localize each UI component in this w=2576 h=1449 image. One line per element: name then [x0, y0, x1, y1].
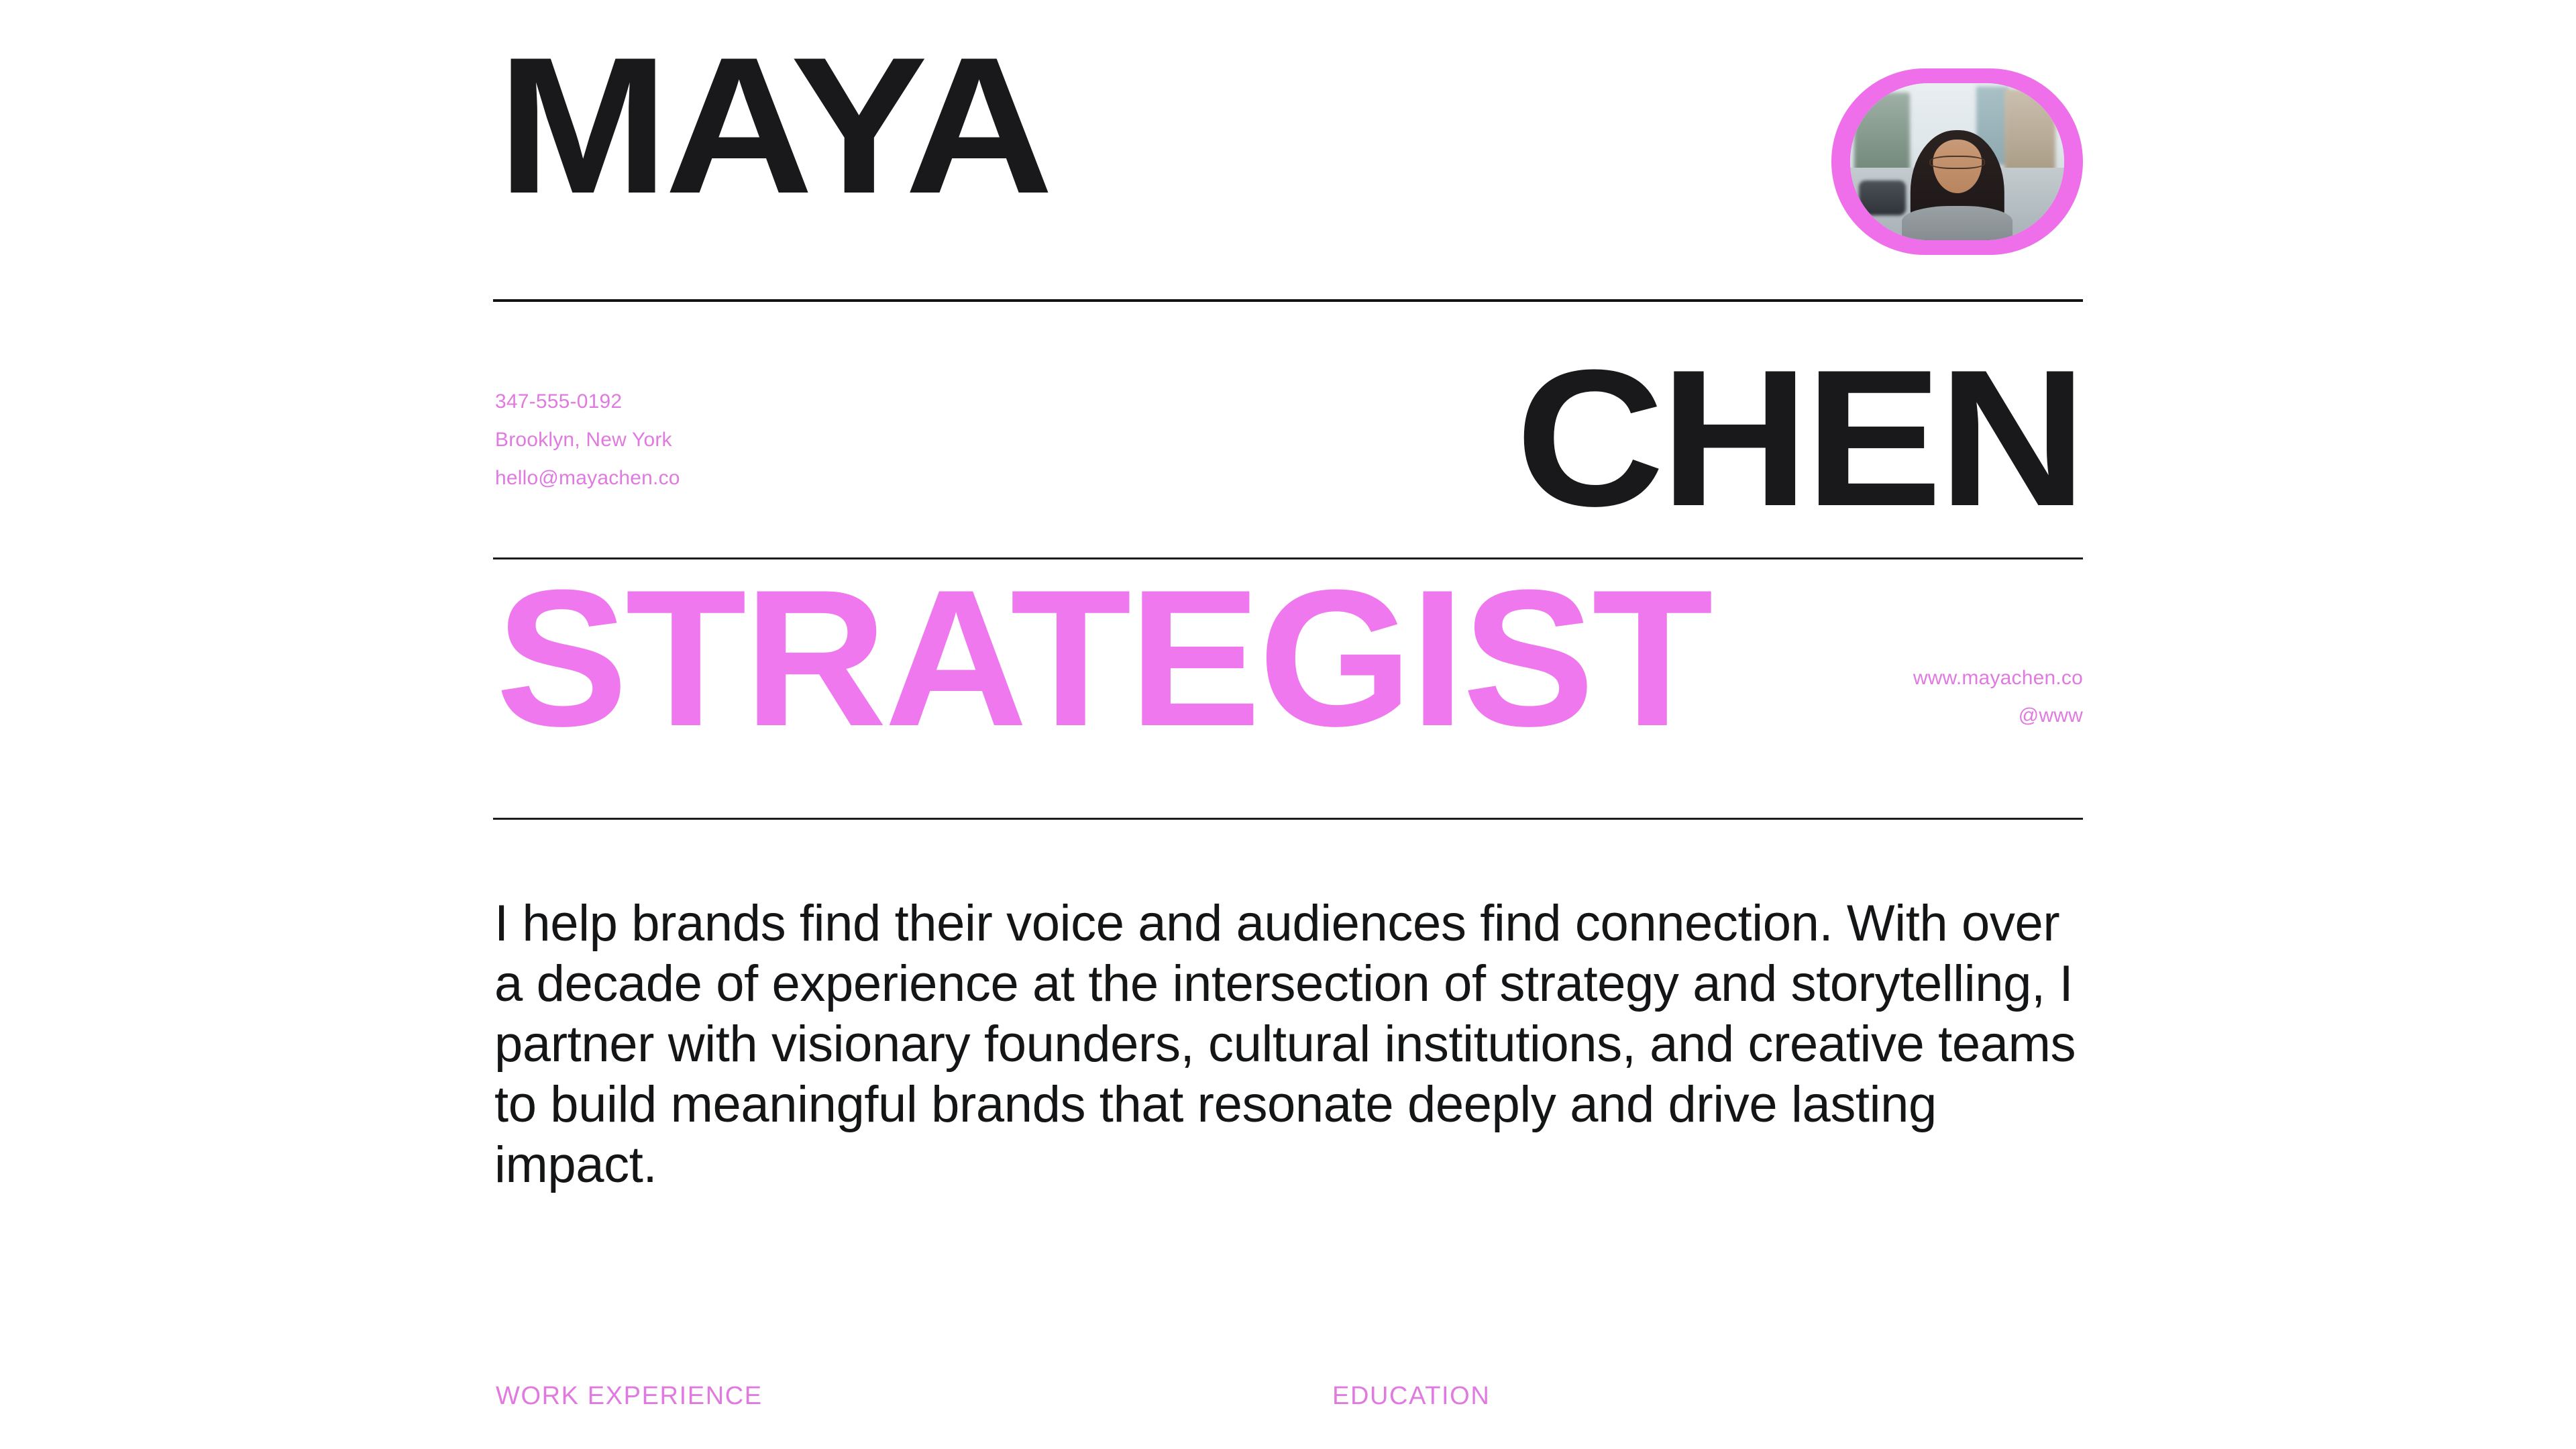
role-title: STRATEGIST [496, 561, 1711, 755]
link-website[interactable]: www.mayachen.co [1913, 659, 2083, 697]
avatar-photo [1850, 83, 2064, 240]
contact-location: Brooklyn, New York [495, 421, 680, 459]
header-row-first-name: MAYA [493, 40, 2083, 282]
section-label-work-experience: WORK EXPERIENCE [496, 1383, 763, 1409]
section-label-education: EDUCATION [1332, 1383, 1490, 1409]
glasses-icon [1929, 156, 1986, 169]
contact-email[interactable]: hello@mayachen.co [495, 459, 680, 497]
summary-paragraph: I help brands find their voice and audie… [494, 894, 2098, 1195]
last-name-heading: CHEN [1515, 341, 2083, 535]
contact-block: 347-555-0192 Brooklyn, New York hello@ma… [495, 382, 680, 497]
contact-phone[interactable]: 347-555-0192 [495, 382, 680, 421]
role-row: STRATEGIST www.mayachen.co @www [493, 576, 2083, 797]
link-social-handle[interactable]: @www [1913, 697, 2083, 735]
avatar [1831, 68, 2083, 255]
links-block: www.mayachen.co @www [1913, 659, 2083, 735]
header-row-last-name: 347-555-0192 Brooklyn, New York hello@ma… [493, 315, 2083, 537]
photo-person-body [1902, 206, 2013, 240]
photo-car [1859, 180, 1906, 215]
divider-top [493, 299, 2083, 302]
divider-below-role [493, 818, 2083, 820]
first-name-heading: MAYA [497, 28, 1049, 223]
resume-page: MAYA 347-555-0192 Brooklyn, New York hel… [0, 0, 2576, 1449]
